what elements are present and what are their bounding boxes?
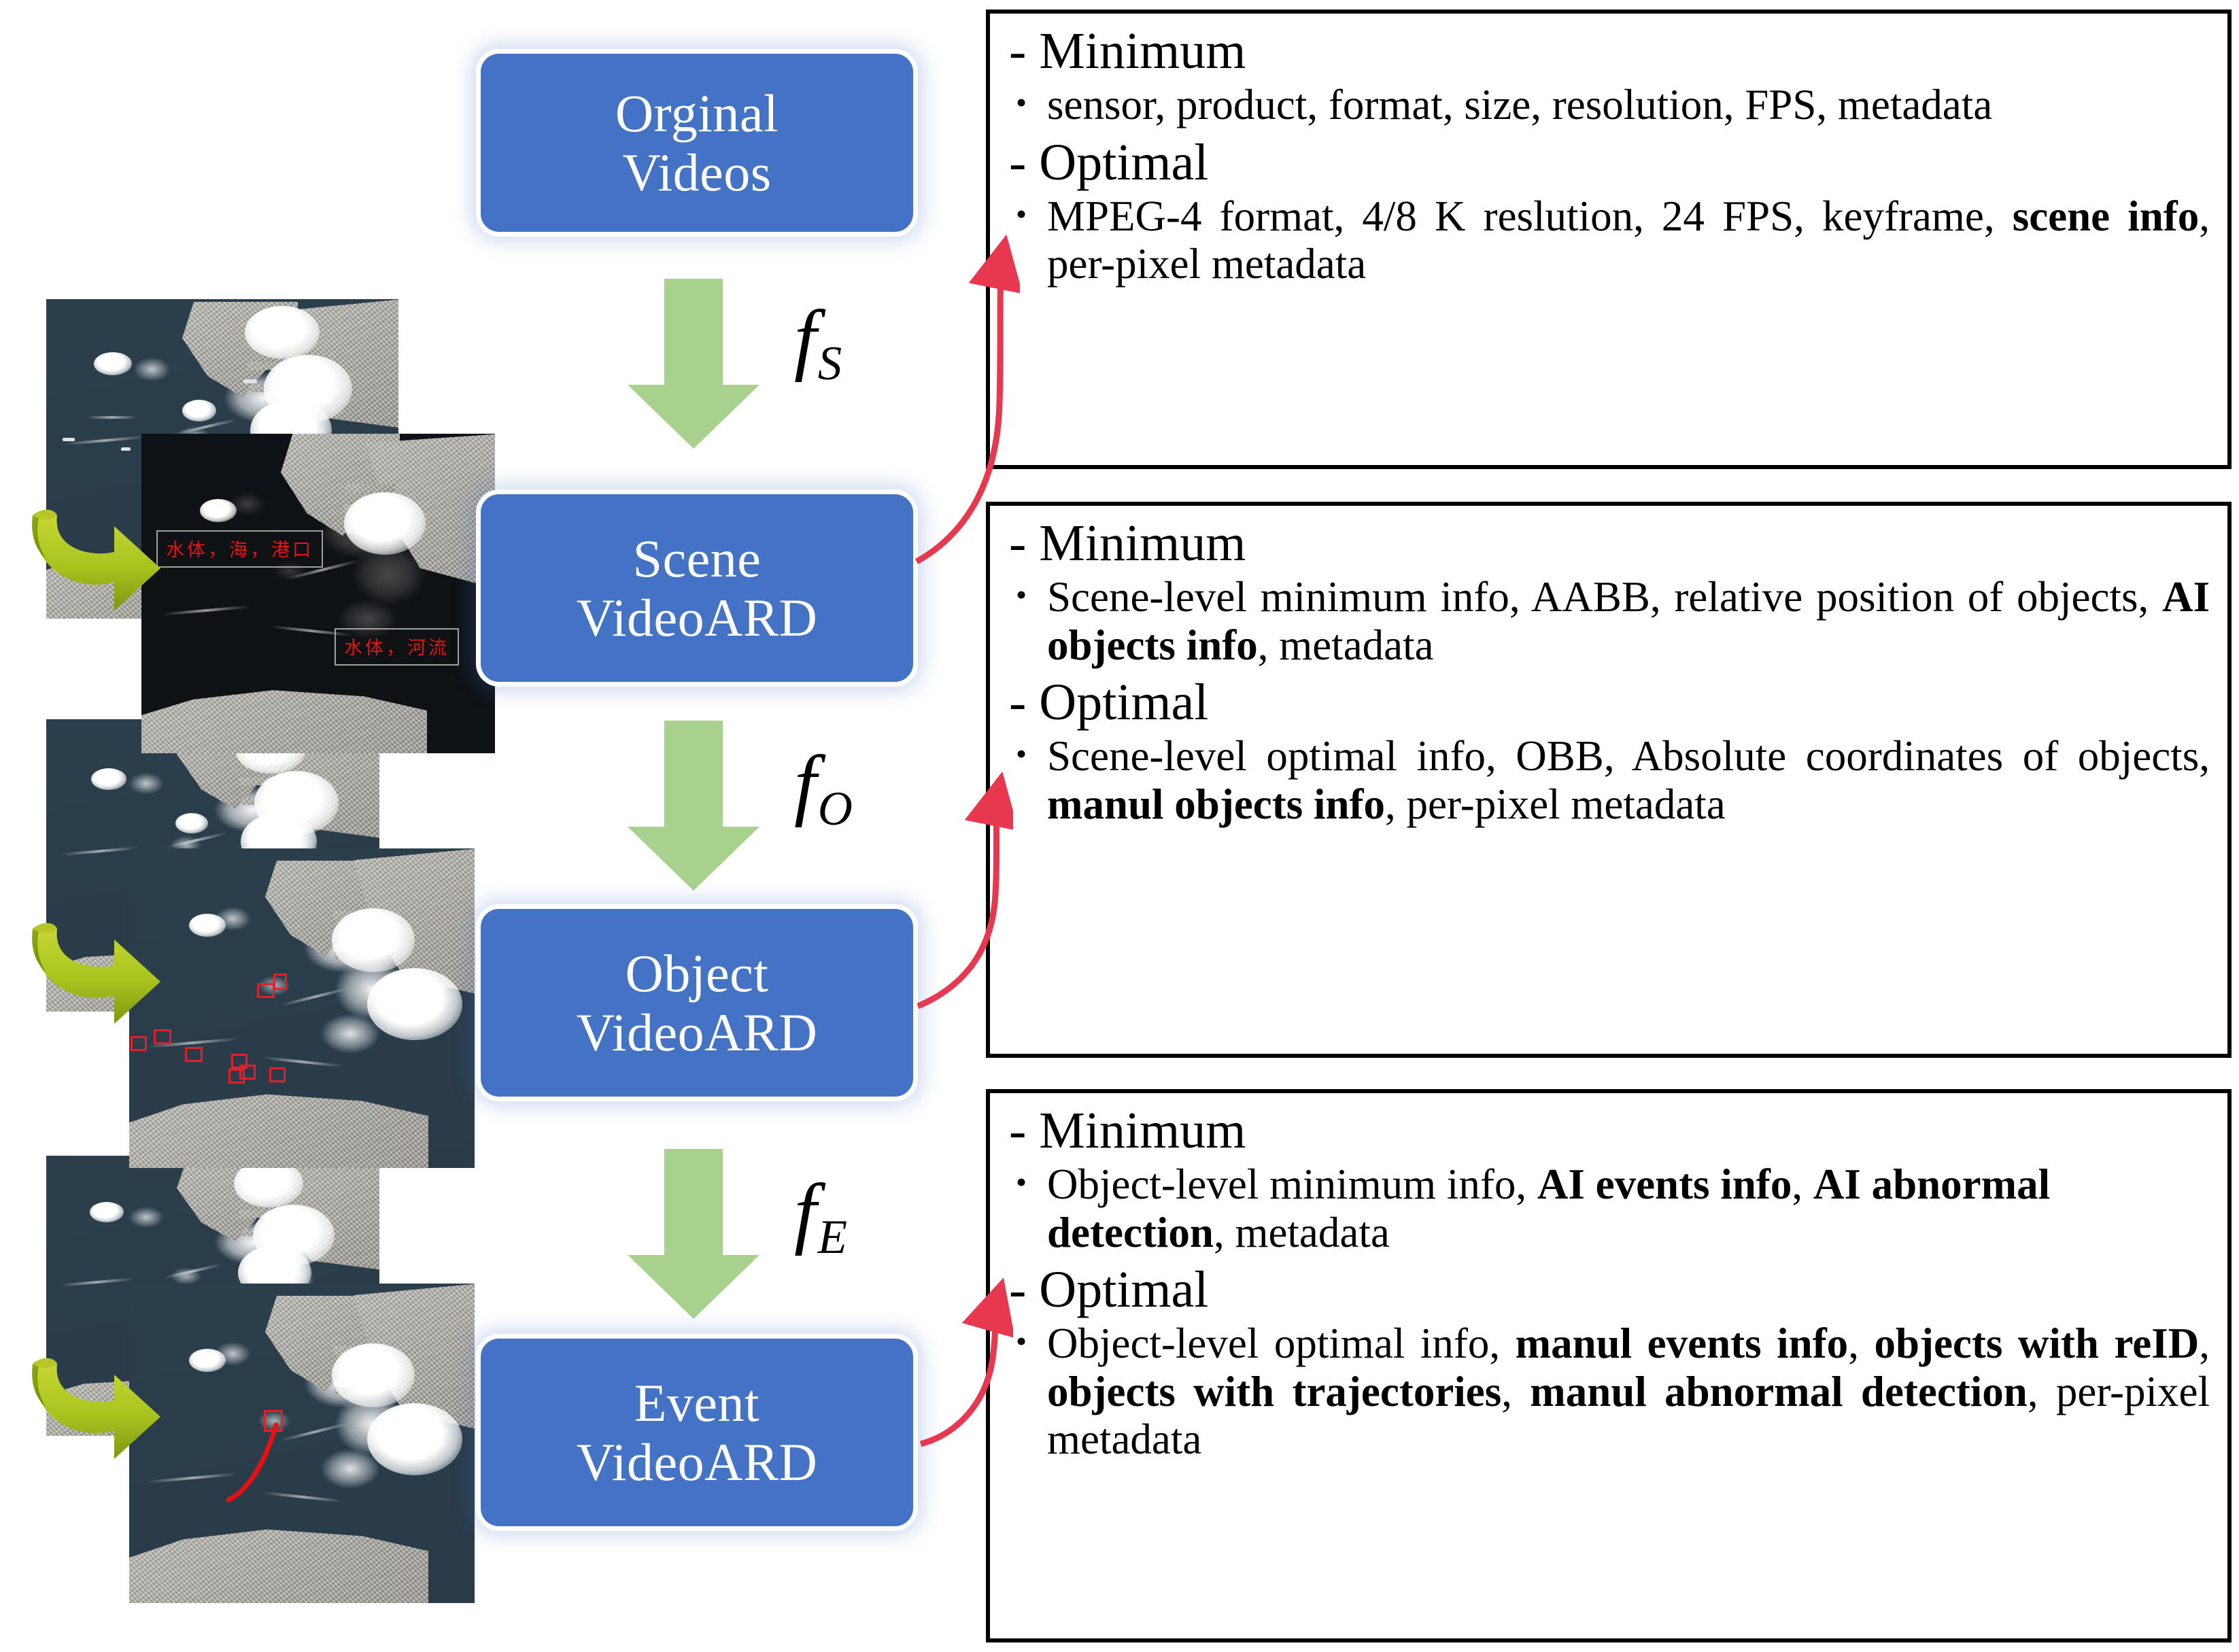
- cloud-2: [367, 968, 462, 1040]
- spec-minimum-bullet: • Object-level minimum info, AI events i…: [1008, 1160, 2210, 1256]
- stage-label-line2: VideoARD: [577, 1003, 818, 1062]
- bullet-dot-icon: •: [1008, 573, 1047, 617]
- spec-optimal-heading: - Optimal: [1009, 1263, 2210, 1317]
- bullet-dot-icon: •: [1008, 192, 1047, 236]
- stage-label-line2: VideoARD: [577, 1432, 818, 1492]
- transform-label-fs: fS: [794, 292, 842, 392]
- stage-label-line1: Scene: [633, 529, 762, 588]
- transform-subscript: S: [818, 337, 842, 390]
- cloud-1: [332, 908, 415, 972]
- cloud-3: [189, 914, 226, 937]
- stage-box-object-videoard[interactable]: Object VideoARD: [476, 904, 918, 1101]
- bullet-dot-icon: •: [1008, 1160, 1047, 1204]
- spec-optimal-bullet: • Object-level optimal info, manul event…: [1008, 1320, 2210, 1464]
- ship-wake-1: [87, 416, 137, 419]
- trajectory-path: [224, 1417, 299, 1505]
- spec-optimal-bullet: • MPEG-4 format, 4/8 K reslution, 24 FPS…: [1008, 192, 2210, 288]
- scene-annotated-image: 水体，海，港口 水体，河流: [141, 434, 495, 753]
- spec-optimal-bullet: • Scene-level optimal info, OBB, Absolut…: [1008, 732, 2210, 828]
- transform-symbol: f: [794, 739, 817, 828]
- object-bbox: [185, 1047, 203, 1062]
- bullet-dot-icon: •: [1008, 732, 1047, 776]
- rotate-arrow-scene: [12, 503, 182, 622]
- bullet-dot-icon: •: [1008, 81, 1047, 124]
- cloud-3: [189, 1349, 226, 1372]
- rotate-arrow-object: [12, 916, 182, 1035]
- spec-box-event: - Minimum • Object-level minimum info, A…: [986, 1089, 2232, 1642]
- spec-minimum-heading: - Minimum: [1009, 1104, 2210, 1158]
- cloud-1: [332, 1343, 415, 1407]
- object-bbox: [269, 1067, 286, 1082]
- stage-label-line1: Event: [634, 1373, 759, 1432]
- ship-1: [63, 438, 75, 441]
- cloud-4: [94, 352, 132, 375]
- ship-3: [243, 379, 257, 383]
- object-bbox: [257, 983, 275, 998]
- spec-optimal-heading: - Optimal: [1009, 136, 2210, 190]
- ship-2: [121, 447, 131, 451]
- cloud-1: [245, 306, 320, 359]
- stage-label-line2: Videos: [622, 143, 771, 202]
- spec-optimal-text: MPEG-4 format, 4/8 K reslution, 24 FPS, …: [1047, 192, 2210, 288]
- transform-label-fe: fE: [794, 1166, 847, 1265]
- flow-arrow-fe: [615, 1149, 772, 1319]
- rotate-arrow-event: [12, 1352, 182, 1470]
- spec-optimal-heading: - Optimal: [1009, 676, 2210, 729]
- flow-arrow-fs: [615, 279, 772, 449]
- cloud-4: [91, 768, 126, 790]
- cloud-5: [175, 813, 208, 833]
- transform-subscript: O: [818, 782, 853, 836]
- transform-subscript: E: [818, 1211, 847, 1264]
- spec-minimum-bullet: • sensor, product, format, size, resolut…: [1008, 81, 2210, 129]
- spec-minimum-text: sensor, product, format, size, resolutio…: [1047, 81, 2210, 129]
- annotation-river: 水体，河流: [335, 628, 459, 666]
- stage-label-line2: VideoARD: [577, 588, 818, 647]
- flow-arrow-fo: [615, 721, 772, 891]
- cloud-dark-2: [200, 499, 237, 522]
- object-bbox: [228, 1069, 245, 1084]
- object-bbox: [131, 1036, 147, 1051]
- spec-optimal-text: Object-level optimal info, manul events …: [1047, 1320, 2210, 1464]
- stage-box-original-videos[interactable]: Orginal Videos: [476, 49, 918, 237]
- spec-minimum-text: Scene-level minimum info, AABB, relative…: [1047, 573, 2210, 669]
- stage-label-line1: Orginal: [615, 84, 779, 143]
- cloud-5: [182, 400, 216, 421]
- cloud-2: [367, 1403, 462, 1475]
- spec-minimum-heading: - Minimum: [1009, 24, 2210, 78]
- spec-box-object: - Minimum • Scene-level minimum info, AA…: [986, 502, 2232, 1058]
- spec-optimal-text: Scene-level optimal info, OBB, Absolute …: [1047, 732, 2210, 828]
- bullet-dot-icon: •: [1008, 1320, 1047, 1363]
- cloud-4: [90, 1202, 124, 1222]
- stage-box-scene-videoard[interactable]: Scene VideoARD: [476, 489, 918, 687]
- spec-minimum-bullet: • Scene-level minimum info, AABB, relati…: [1008, 573, 2210, 669]
- spec-minimum-heading: - Minimum: [1009, 517, 2210, 570]
- stage-label-line1: Object: [626, 944, 769, 1003]
- object-bbox: [273, 974, 287, 990]
- spec-box-scene: - Minimum • sensor, product, format, siz…: [986, 10, 2232, 469]
- land-dock-dark-1: [345, 484, 394, 493]
- transform-label-fo: fO: [794, 738, 853, 837]
- spec-minimum-text: Object-level minimum info, AI events inf…: [1047, 1160, 2210, 1256]
- cloud-dark-1: [344, 492, 426, 555]
- transform-symbol: f: [794, 294, 817, 383]
- stage-box-event-videoard[interactable]: Event VideoARD: [476, 1334, 918, 1531]
- transform-symbol: f: [794, 1167, 817, 1256]
